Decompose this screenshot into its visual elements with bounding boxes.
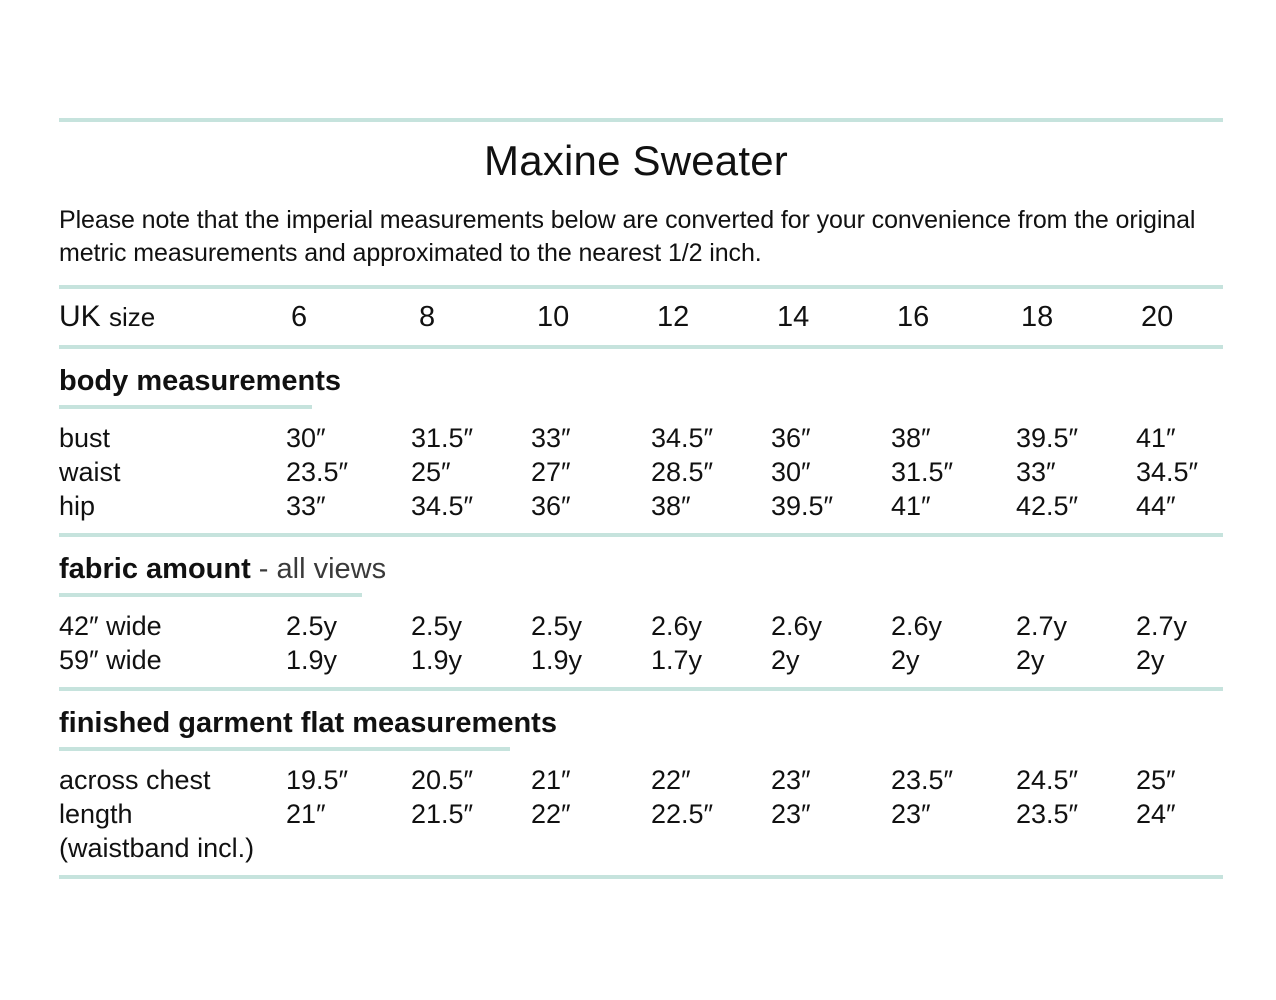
chart-container: Maxine Sweater Please note that the impe… xyxy=(59,118,1223,879)
page-title: Maxine Sweater xyxy=(59,140,1223,182)
size-header-cell: 20 xyxy=(1141,289,1173,345)
row-cell: 23″ xyxy=(771,797,811,831)
section-heading-underline xyxy=(59,593,362,597)
row-cell: 2.5y xyxy=(286,609,337,643)
section-heading-text: fabric amount xyxy=(59,553,251,585)
row-cell: 19.5″ xyxy=(286,763,348,797)
row-cell: 2y xyxy=(771,643,800,677)
size-header-cell: 16 xyxy=(897,289,929,345)
row-cell: 2.6y xyxy=(771,609,822,643)
table-row: 42″ wide 2.5y 2.5y 2.5y 2.6y 2.6y 2.6y 2… xyxy=(59,609,1223,643)
size-header-cell: 18 xyxy=(1021,289,1053,345)
row-cell: 25″ xyxy=(1136,763,1176,797)
row-cell: 2.6y xyxy=(651,609,702,643)
section-finished-garment: finished garment flat measurements acros… xyxy=(59,709,1223,875)
size-header-label-secondary: size xyxy=(109,302,155,332)
row-cell: 34.5″ xyxy=(1136,455,1198,489)
row-cell: 31.5″ xyxy=(411,421,473,455)
row-cell: 1.9y xyxy=(286,643,337,677)
row-cell: 36″ xyxy=(531,489,571,523)
row-cell: 21″ xyxy=(531,763,571,797)
row-cell: 2y xyxy=(1016,643,1045,677)
row-label: (waistband incl.) xyxy=(59,831,254,865)
row-label: across chest xyxy=(59,763,211,797)
row-cell: 24″ xyxy=(1136,797,1176,831)
table-row: hip 33″ 34.5″ 36″ 38″ 39.5″ 41″ 42.5″ 44… xyxy=(59,489,1223,523)
section-heading-text: body measurements xyxy=(59,365,341,397)
conversion-note: Please note that the imperial measuremen… xyxy=(59,204,1223,271)
row-label: bust xyxy=(59,421,110,455)
row-cell: 42.5″ xyxy=(1016,489,1078,523)
size-header-label: UK size xyxy=(59,289,155,345)
row-cell: 23.5″ xyxy=(286,455,348,489)
divider-below-fabric-amount xyxy=(59,687,1223,691)
row-cell: 33″ xyxy=(286,489,326,523)
size-header-cell: 12 xyxy=(657,289,689,345)
row-cell: 44″ xyxy=(1136,489,1176,523)
row-cell: 30″ xyxy=(771,455,811,489)
row-label: hip xyxy=(59,489,95,523)
row-cell: 31.5″ xyxy=(891,455,953,489)
row-cell: 1.9y xyxy=(531,643,582,677)
row-cell: 24.5″ xyxy=(1016,763,1078,797)
row-cell: 27″ xyxy=(531,455,571,489)
row-cell: 20.5″ xyxy=(411,763,473,797)
row-cell: 38″ xyxy=(891,421,931,455)
section-heading-underline xyxy=(59,747,510,751)
table-row: 59″ wide 1.9y 1.9y 1.9y 1.7y 2y 2y 2y 2y xyxy=(59,643,1223,677)
row-cell: 36″ xyxy=(771,421,811,455)
row-label: 42″ wide xyxy=(59,609,162,643)
size-header-cell: 10 xyxy=(537,289,569,345)
row-cell: 23″ xyxy=(891,797,931,831)
size-header-cell: 6 xyxy=(291,289,307,345)
row-cell: 22″ xyxy=(651,763,691,797)
divider-bottom xyxy=(59,875,1223,879)
row-cell: 41″ xyxy=(891,489,931,523)
row-cell: 22″ xyxy=(531,797,571,831)
row-cell: 39.5″ xyxy=(771,489,833,523)
row-cell: 1.7y xyxy=(651,643,702,677)
row-cell: 23.5″ xyxy=(891,763,953,797)
row-cell: 41″ xyxy=(1136,421,1176,455)
section-heading-suffix: - all views xyxy=(251,553,386,585)
row-cell: 23.5″ xyxy=(1016,797,1078,831)
row-label: waist xyxy=(59,455,121,489)
row-cell: 22.5″ xyxy=(651,797,713,831)
row-label: 59″ wide xyxy=(59,643,162,677)
row-cell: 28.5″ xyxy=(651,455,713,489)
section-heading-text: finished garment flat measurements xyxy=(59,707,557,739)
row-cell: 33″ xyxy=(531,421,571,455)
row-cell: 34.5″ xyxy=(651,421,713,455)
row-cell: 25″ xyxy=(411,455,451,489)
section-heading: body measurements xyxy=(59,367,1223,396)
row-cell: 2y xyxy=(1136,643,1165,677)
row-cell: 38″ xyxy=(651,489,691,523)
section-body-measurements: body measurements bust 30″ 31.5″ 33″ 34.… xyxy=(59,367,1223,533)
divider-below-size-header xyxy=(59,345,1223,349)
table-row: (waistband incl.) xyxy=(59,831,1223,865)
row-cell: 2.5y xyxy=(411,609,462,643)
row-cell: 1.9y xyxy=(411,643,462,677)
section-fabric-amount: fabric amount - all views 42″ wide 2.5y … xyxy=(59,555,1223,687)
divider-top xyxy=(59,118,1223,122)
row-cell: 30″ xyxy=(286,421,326,455)
section-heading: finished garment flat measurements xyxy=(59,709,1223,738)
table-row: bust 30″ 31.5″ 33″ 34.5″ 36″ 38″ 39.5″ 4… xyxy=(59,421,1223,455)
table-row: waist 23.5″ 25″ 27″ 28.5″ 30″ 31.5″ 33″ … xyxy=(59,455,1223,489)
size-header-row: UK size 6 8 10 12 14 16 18 20 xyxy=(59,289,1223,345)
table-row: length 21″ 21.5″ 22″ 22.5″ 23″ 23″ 23.5″… xyxy=(59,797,1223,831)
row-cell: 2.7y xyxy=(1016,609,1067,643)
row-cell: 39.5″ xyxy=(1016,421,1078,455)
row-cell: 2.7y xyxy=(1136,609,1187,643)
row-cell: 21″ xyxy=(286,797,326,831)
row-cell: 34.5″ xyxy=(411,489,473,523)
size-header-label-primary: UK xyxy=(59,300,101,333)
divider-below-body-measurements xyxy=(59,533,1223,537)
row-cell: 2.6y xyxy=(891,609,942,643)
row-cell: 33″ xyxy=(1016,455,1056,489)
section-heading-underline xyxy=(59,405,312,409)
size-header-cell: 14 xyxy=(777,289,809,345)
row-cell: 23″ xyxy=(771,763,811,797)
size-header-cell: 8 xyxy=(419,289,435,345)
row-cell: 21.5″ xyxy=(411,797,473,831)
row-cell: 2y xyxy=(891,643,920,677)
table-row: across chest 19.5″ 20.5″ 21″ 22″ 23″ 23.… xyxy=(59,763,1223,797)
row-label: length xyxy=(59,797,133,831)
size-chart-page: Maxine Sweater Please note that the impe… xyxy=(0,0,1276,1000)
section-heading: fabric amount - all views xyxy=(59,555,1223,584)
row-cell: 2.5y xyxy=(531,609,582,643)
